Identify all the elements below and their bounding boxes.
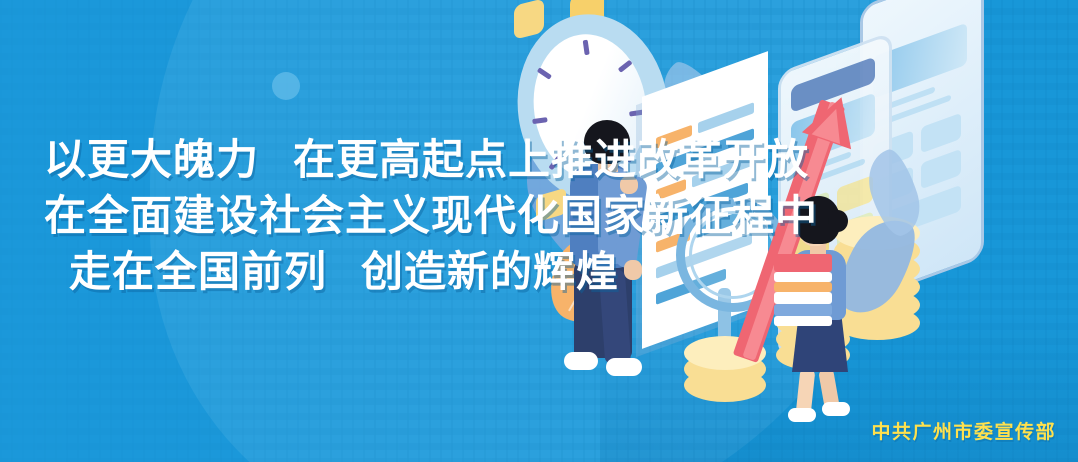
headline-line-2: 在全面建设社会主义现代化国家新征程中	[0, 188, 690, 244]
book	[774, 254, 832, 272]
headline-block: 以更大魄力在更高起点上推进改革开放 在全面建设社会主义现代化国家新征程中 走在全…	[0, 132, 690, 300]
headline-line-3a: 走在全国前列	[69, 248, 327, 295]
clock-tick	[618, 60, 633, 73]
headline-line-1a: 以更大魄力	[44, 136, 259, 183]
phone-content-card	[921, 113, 961, 154]
promotional-banner: 以更大魄力在更高起点上推进改革开放 在全面建设社会主义现代化国家新征程中 走在全…	[0, 0, 1078, 462]
book	[774, 292, 832, 304]
phone-content-card	[921, 149, 961, 190]
document-text-line	[698, 102, 754, 133]
clock-bell-back	[514, 0, 544, 40]
male-shoe	[564, 352, 598, 370]
book	[774, 272, 832, 282]
headline-line-3: 走在全国前列创造新的辉煌	[0, 244, 644, 300]
clock-tick	[532, 117, 548, 124]
attribution-text: 中共广州市委宣传部	[871, 417, 1056, 444]
female-shoe	[788, 408, 816, 422]
headline-line-1b: 在更高起点上推进改革开放	[293, 136, 809, 183]
clock-tick	[583, 40, 590, 56]
background-dot-accent	[272, 72, 300, 100]
male-shoe	[606, 358, 642, 376]
female-shoe	[822, 402, 850, 416]
headline-line-3b: 创造新的辉煌	[361, 248, 619, 295]
book	[774, 282, 832, 292]
clock-tick	[537, 67, 552, 80]
female-hair-bun	[828, 210, 848, 232]
book	[774, 316, 832, 326]
book	[774, 304, 832, 316]
headline-line-1: 以更大魄力在更高起点上推进改革开放	[0, 132, 690, 188]
